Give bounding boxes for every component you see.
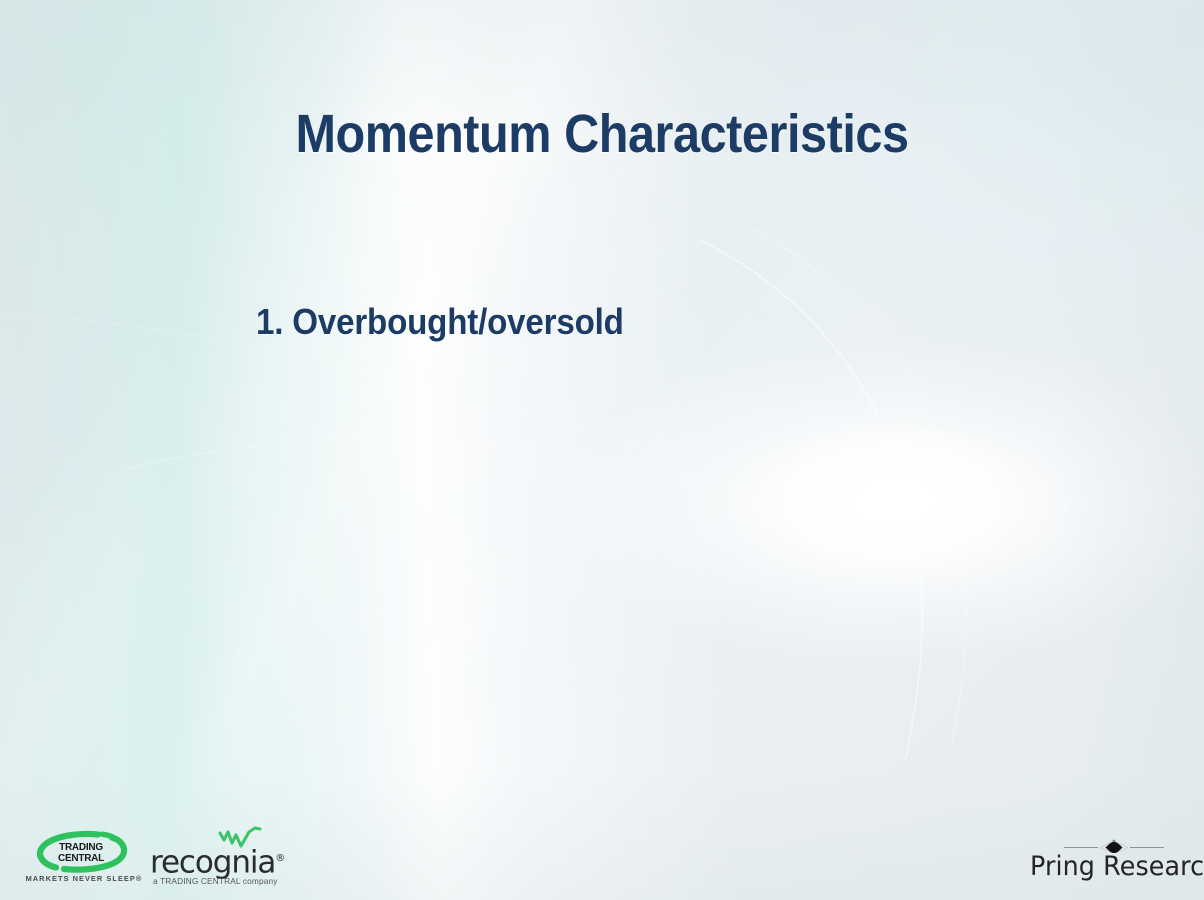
recognia-logo: recognia® a TRADING CENTRAL company [150, 826, 290, 896]
presentation-slide: Momentum Characteristics 1. Overbought/o… [0, 0, 1204, 900]
slide-title: Momentum Characteristics [60, 103, 1144, 165]
trading-central-line-2: CENTRAL [47, 853, 115, 864]
trading-central-wordmark: TRADING CENTRAL [45, 842, 117, 863]
pring-research-logo: Pring Research [1018, 824, 1204, 900]
trading-central-tagline: MARKETS NEVER SLEEP® [25, 874, 143, 883]
trading-central-logo: TRADING CENTRAL MARKETS NEVER SLEEP® [28, 828, 136, 900]
recognia-wordmark-text: recognia [150, 844, 275, 880]
recognia-registered-mark: ® [275, 853, 285, 864]
pring-research-name: Pring Research [1030, 851, 1204, 882]
slide-bullet-1: 1. Overbought/oversold [256, 301, 624, 343]
recognia-subtitle: a TRADING CENTRAL company [153, 876, 278, 886]
recognia-wordmark: recognia® [150, 843, 285, 878]
